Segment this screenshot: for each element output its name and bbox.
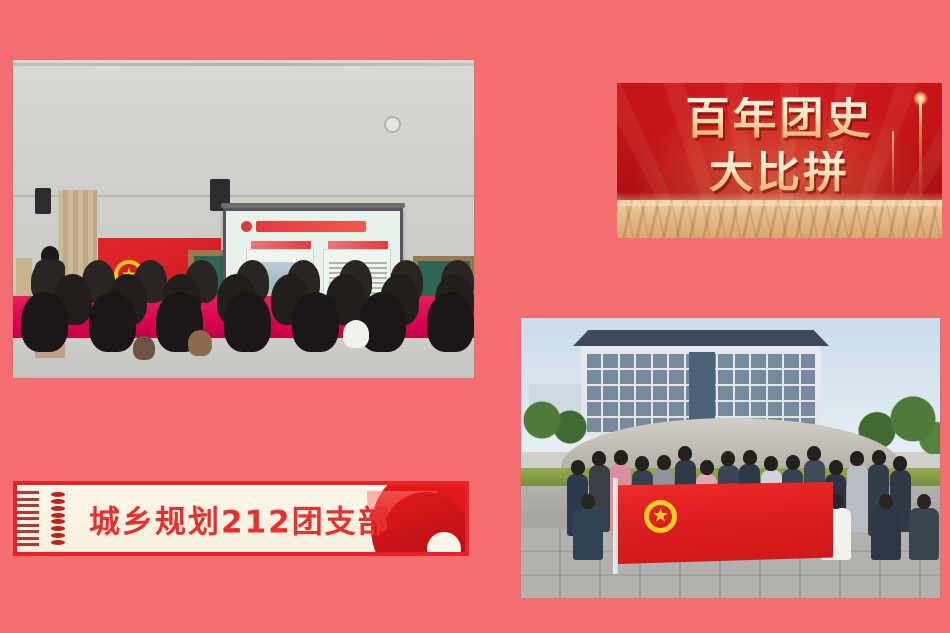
building-roof [573, 330, 829, 346]
slide-panel-heading [328, 241, 388, 249]
banner-hundred-years-youth-league-history[interactable]: 百年团史 大比拼 [617, 83, 942, 238]
title-plate-banner[interactable]: 城乡规划212团支部 [13, 481, 469, 556]
title-plate-tick-marks [17, 491, 39, 546]
flag-edge [613, 478, 618, 574]
slide-canvas: 百年团史 大比拼 [0, 0, 950, 633]
youth-league-star-emblem-icon [644, 500, 677, 533]
slide-bullet-icon [241, 221, 252, 232]
trees-left [521, 378, 591, 448]
photo-classroom[interactable] [13, 60, 474, 378]
photo-group-portrait[interactable] [521, 318, 940, 598]
title-plate-panel: 城乡规划212团支部 [17, 485, 465, 552]
title-plate-dash-column [51, 492, 65, 545]
banner-headline: 百年团史 大比拼 [617, 97, 942, 195]
slide-panel-heading [251, 241, 311, 249]
ceiling-line [13, 63, 474, 66]
audience-silhouettes [13, 288, 474, 378]
banner-headline-line1: 百年团史 [617, 97, 942, 141]
banner-headline-line2: 大比拼 [617, 151, 942, 195]
youth-league-flag-held [618, 482, 833, 564]
slide-title-bar [256, 221, 366, 232]
wall-clock-icon [384, 116, 401, 133]
wall-speaker-icon [35, 188, 51, 214]
title-plate-text: 城乡规划212团支部 [89, 496, 391, 541]
banner-stage-floor [617, 200, 942, 238]
